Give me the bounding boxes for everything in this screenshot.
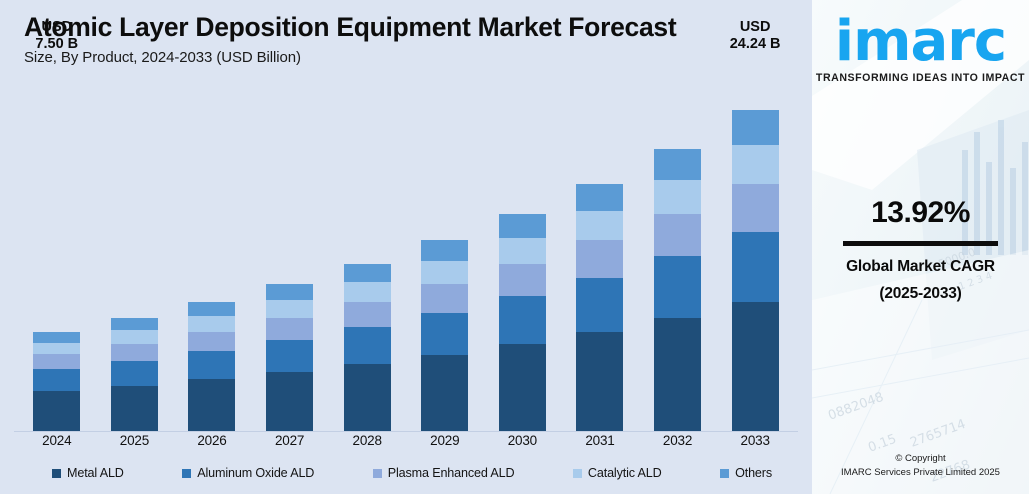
cagr-block: 13.92% Global Market CAGR (2025-2033) [812, 196, 1029, 303]
bar-segment[interactable] [732, 145, 779, 184]
x-tick-2030: 2030 [484, 433, 562, 448]
bar-segment[interactable] [266, 340, 313, 372]
stacked-bar[interactable] [111, 318, 158, 431]
branding-content: imarc TRANSFORMING IDEAS INTO IMPACT 13.… [812, 0, 1029, 494]
axis-baseline [14, 431, 798, 432]
chart-legend: Metal ALDAluminum Oxide ALDPlasma Enhanc… [0, 466, 812, 480]
x-tick-2027: 2027 [251, 433, 329, 448]
bar-segment[interactable] [576, 332, 623, 431]
bar-segment[interactable] [732, 184, 779, 232]
callout-currency: USD [35, 19, 78, 36]
bar-segment[interactable] [188, 332, 235, 351]
x-tick-2032: 2032 [639, 433, 717, 448]
bar-segment[interactable] [654, 318, 701, 431]
chart-panel: Atomic Layer Deposition Equipment Market… [0, 0, 812, 494]
legend-label: Plasma Enhanced ALD [388, 466, 515, 480]
bar-segment[interactable] [421, 240, 468, 261]
stacked-bar[interactable] [499, 214, 546, 431]
bar-segment[interactable] [188, 316, 235, 332]
bar-segment[interactable] [421, 355, 468, 431]
x-tick-2033: 2033 [716, 433, 794, 448]
legend-swatch-icon [373, 469, 382, 478]
bar-column-2027 [251, 60, 329, 431]
bar-segment[interactable] [266, 300, 313, 318]
branding-panel: 0.15 2765714 22768 0882048 5000.0 1 2 3 … [812, 0, 1029, 494]
x-tick-2025: 2025 [96, 433, 174, 448]
legend-item-others[interactable]: Others [720, 466, 772, 480]
stacked-bar[interactable] [421, 240, 468, 431]
bar-segment[interactable] [421, 261, 468, 284]
callout-value: 7.50 B [35, 36, 78, 53]
legend-label: Aluminum Oxide ALD [197, 466, 314, 480]
bar-segment[interactable] [499, 238, 546, 264]
legend-swatch-icon [182, 469, 191, 478]
stacked-bar[interactable] [576, 184, 623, 431]
copyright-line-1: © Copyright [812, 452, 1029, 466]
stacked-bar[interactable] [33, 332, 80, 431]
bar-segment[interactable] [499, 214, 546, 238]
bar-column-2028 [328, 60, 406, 431]
logo-tagline: TRANSFORMING IDEAS INTO IMPACT [812, 72, 1029, 84]
x-tick-2031: 2031 [561, 433, 639, 448]
bar-segment[interactable] [654, 180, 701, 214]
legend-item-aluminum-oxide-ald[interactable]: Aluminum Oxide ALD [182, 466, 314, 480]
x-axis-labels: 2024202520262027202820292030203120322033 [0, 433, 812, 448]
legend-label: Others [735, 466, 772, 480]
legend-swatch-icon [573, 469, 582, 478]
bar-segment[interactable] [576, 211, 623, 241]
x-tick-2029: 2029 [406, 433, 484, 448]
bar-segment[interactable] [33, 369, 80, 391]
cagr-divider [843, 241, 998, 246]
cagr-value: 13.92% [812, 196, 1029, 230]
bar-segment[interactable] [576, 240, 623, 277]
bar-group: USD7.50 BUSD24.24 B [0, 60, 812, 431]
bar-segment[interactable] [111, 386, 158, 431]
bar-segment[interactable] [266, 318, 313, 340]
bar-segment[interactable] [111, 318, 158, 330]
bar-segment[interactable] [421, 284, 468, 313]
cagr-period: (2025-2033) [812, 285, 1029, 303]
bar-column-2026 [173, 60, 251, 431]
plot-area: USD7.50 BUSD24.24 B [0, 60, 812, 432]
bar-segment[interactable] [33, 391, 80, 431]
legend-item-metal-ald[interactable]: Metal ALD [52, 466, 124, 480]
bar-column-2025 [96, 60, 174, 431]
chart-header: Atomic Layer Deposition Equipment Market… [24, 12, 794, 66]
bar-segment[interactable] [344, 282, 391, 302]
stacked-bar[interactable] [188, 302, 235, 431]
bar-segment[interactable] [732, 232, 779, 303]
stacked-bar[interactable] [654, 149, 701, 431]
bar-segment[interactable] [344, 364, 391, 431]
bar-column-2033: USD24.24 B [716, 60, 794, 431]
legend-label: Metal ALD [67, 466, 124, 480]
bar-segment[interactable] [33, 343, 80, 355]
legend-item-catalytic-ald[interactable]: Catalytic ALD [573, 466, 662, 480]
bar-column-2030 [484, 60, 562, 431]
x-tick-2024: 2024 [18, 433, 96, 448]
copyright-line-2: IMARC Services Private Limited 2025 [812, 466, 1029, 480]
bar-segment[interactable] [499, 264, 546, 297]
bar-segment[interactable] [654, 149, 701, 180]
bar-segment[interactable] [188, 351, 235, 379]
bar-segment[interactable] [732, 302, 779, 431]
stacked-bar[interactable] [266, 284, 313, 431]
bar-segment[interactable] [266, 284, 313, 300]
bar-segment[interactable] [33, 354, 80, 369]
bar-segment[interactable] [111, 330, 158, 344]
x-tick-2026: 2026 [173, 433, 251, 448]
bar-segment[interactable] [344, 264, 391, 282]
bar-column-2029 [406, 60, 484, 431]
bar-value-callout: USD7.50 B [35, 19, 78, 53]
bar-segment[interactable] [111, 344, 158, 361]
bar-segment[interactable] [266, 372, 313, 431]
bar-segment[interactable] [576, 278, 623, 332]
bar-segment[interactable] [188, 379, 235, 431]
legend-label: Catalytic ALD [588, 466, 662, 480]
bar-segment[interactable] [499, 296, 546, 344]
legend-item-plasma-enhanced-ald[interactable]: Plasma Enhanced ALD [373, 466, 515, 480]
callout-value: 24.24 B [730, 36, 781, 53]
stacked-bar[interactable] [344, 264, 391, 431]
bar-column-2032 [639, 60, 717, 431]
cagr-label: Global Market CAGR [812, 258, 1029, 276]
stacked-bar[interactable] [732, 110, 779, 431]
legend-swatch-icon [720, 469, 729, 478]
bar-segment[interactable] [421, 313, 468, 355]
logo-wordmark: imarc [812, 18, 1029, 66]
bar-segment[interactable] [344, 327, 391, 364]
bar-segment[interactable] [111, 361, 158, 386]
x-tick-2028: 2028 [328, 433, 406, 448]
legend-swatch-icon [52, 469, 61, 478]
bar-segment[interactable] [654, 256, 701, 318]
bar-segment[interactable] [576, 184, 623, 211]
bar-segment[interactable] [344, 302, 391, 327]
bar-segment[interactable] [732, 110, 779, 145]
bar-segment[interactable] [33, 332, 80, 343]
bar-segment[interactable] [188, 302, 235, 316]
forecast-infographic: Atomic Layer Deposition Equipment Market… [0, 0, 1029, 494]
copyright-notice: © Copyright IMARC Services Private Limit… [812, 452, 1029, 480]
bar-value-callout: USD24.24 B [730, 19, 781, 53]
imarc-logo: imarc TRANSFORMING IDEAS INTO IMPACT [812, 18, 1029, 84]
bar-segment[interactable] [654, 214, 701, 256]
page-title: Atomic Layer Deposition Equipment Market… [24, 12, 794, 42]
bar-column-2031 [561, 60, 639, 431]
callout-currency: USD [730, 19, 781, 36]
bar-column-2024: USD7.50 B [18, 60, 96, 431]
bar-segment[interactable] [499, 344, 546, 431]
